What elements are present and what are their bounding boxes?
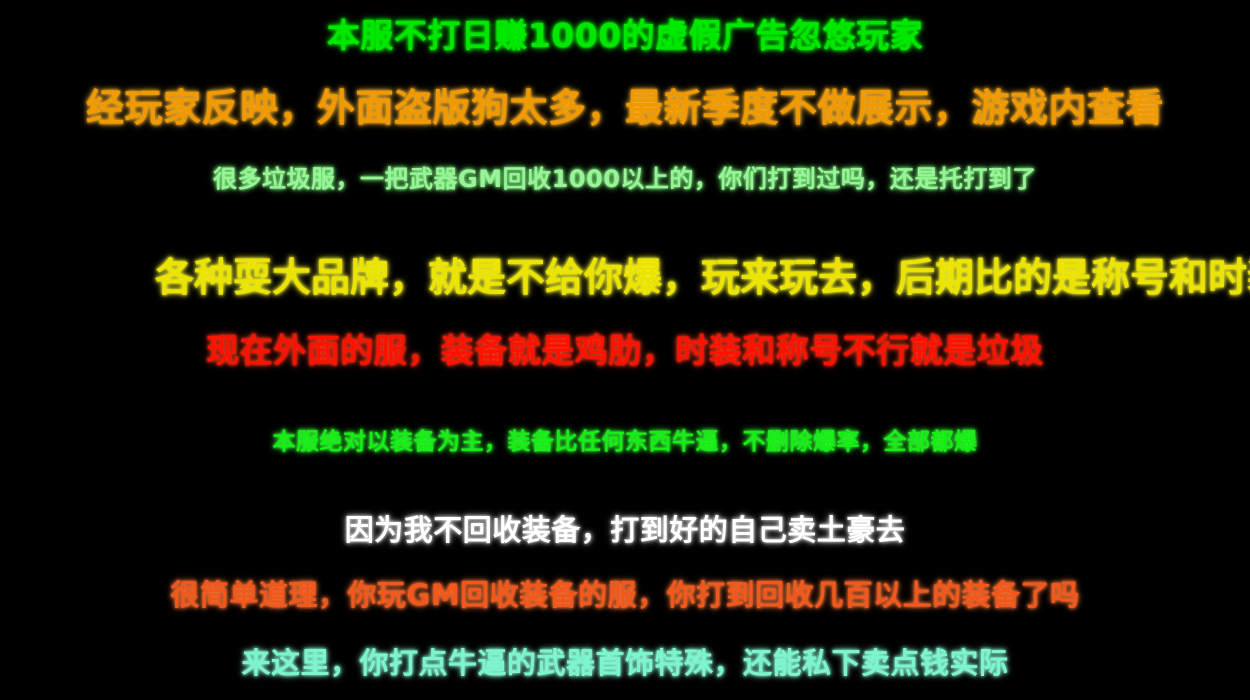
ad-line-text: 因为我不回收装备，打到好的自己卖土豪去 xyxy=(345,513,906,547)
ad-line-headline-no-fake-ads: 本服不打日赚1000的虚假广告忽悠玩家 xyxy=(0,18,1250,54)
ad-line-notice-pirate-servers: 经玩家反映，外面盗版狗太多，最新季度不做展示，游戏内查看 xyxy=(0,88,1250,130)
ad-line-text: 本服绝对以装备为主，装备比任何东西牛逼，不删除爆率，全部都爆 xyxy=(273,429,978,455)
ad-line-complaint-gear-useless: 现在外面的服，装备就是鸡肋，时装和称号不行就是垃圾 xyxy=(0,333,1250,369)
ad-line-complaint-big-brand-no-drop: 各种耍大品牌，就是不给你爆，玩来玩去，后期比的是称号和时装 xyxy=(155,258,1250,301)
announcement-page: 本服不打日赚1000的虚假广告忽悠玩家 经玩家反映，外面盗版狗太多，最新季度不做… xyxy=(0,0,1250,700)
ad-line-text: 很多垃圾服，一把武器GM回收1000以上的，你们打到过吗，还是托打到了 xyxy=(213,165,1037,193)
ad-line-text: 各种耍大品牌，就是不给你爆，玩来玩去，后期比的是称号和时装 xyxy=(155,256,1250,301)
ad-line-question-gm-recycle-hundreds: 很简单道理，你玩GM回收装备的服，你打到回收几百以上的装备了吗 xyxy=(0,580,1250,612)
ad-line-promise-gear-focused: 本服绝对以装备为主，装备比任何东西牛逼，不删除爆率，全部都爆 xyxy=(0,430,1250,455)
ad-line-text: 本服不打日赚1000的虚假广告忽悠玩家 xyxy=(327,16,923,55)
ad-line-promise-no-recycle: 因为我不回收装备，打到好的自己卖土豪去 xyxy=(0,515,1250,547)
ad-line-text: 来这里，你打点牛逼的武器首饰特殊，还能私下卖点钱实际 xyxy=(241,646,1008,680)
ad-line-text: 很简单道理，你玩GM回收装备的服，你打到回收几百以上的装备了吗 xyxy=(170,578,1079,612)
ad-line-question-gm-recycle-1000: 很多垃圾服，一把武器GM回收1000以上的，你们打到过吗，还是托打到了 xyxy=(0,166,1250,192)
ad-line-text: 经玩家反映，外面盗版狗太多，最新季度不做展示，游戏内查看 xyxy=(86,86,1164,130)
ad-line-invite-sell-privately: 来这里，你打点牛逼的武器首饰特殊，还能私下卖点钱实际 xyxy=(0,648,1250,680)
ad-line-text: 现在外面的服，装备就是鸡肋，时装和称号不行就是垃圾 xyxy=(206,331,1044,370)
